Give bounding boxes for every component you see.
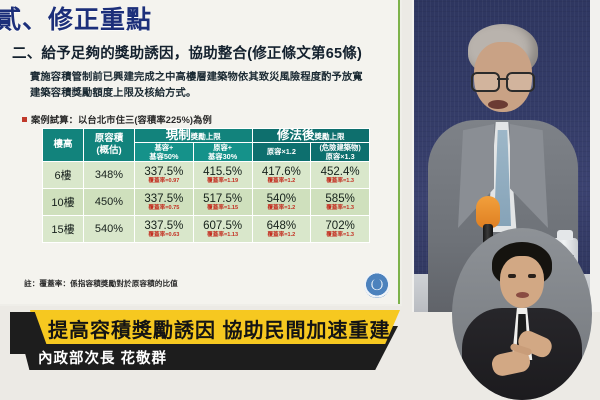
cell-value-3: 417.6%覆蓋率=1.2 bbox=[252, 161, 311, 188]
interpreter-eye-right bbox=[528, 274, 536, 278]
cell-value-3: 540%覆蓋率=1.2 bbox=[252, 188, 311, 215]
square-bullet-icon bbox=[22, 117, 27, 122]
lens-left bbox=[471, 72, 500, 92]
table-row: 15樓540%337.5%覆蓋率=0.63607.5%覆蓋率=1.13648%覆… bbox=[43, 215, 370, 242]
cell-value-1: 337.5%覆蓋率=0.75 bbox=[135, 188, 194, 215]
lens-right bbox=[506, 72, 535, 92]
th-amended-main: 修法後 bbox=[277, 128, 315, 142]
cell-coverage-note: 覆蓋率=1.19 bbox=[194, 178, 252, 184]
interpreter-mouth bbox=[516, 292, 529, 298]
th-current-system-suffix: 獎勵上限 bbox=[191, 132, 221, 141]
table-row: 10樓450%337.5%覆蓋率=0.75517.5%覆蓋率=1.15540%覆… bbox=[43, 188, 370, 215]
cell-value-1: 337.5%覆蓋率=0.63 bbox=[135, 215, 194, 242]
cell-coverage-note: 覆蓋率=1.3 bbox=[311, 232, 369, 238]
th-amended-col-2-line1: (危險建築物) bbox=[311, 143, 369, 152]
th-amended-col-1: 原容×1.2 bbox=[252, 142, 311, 161]
th-current-col-2-line2: 基容30% bbox=[194, 152, 252, 161]
th-current-col-1: 基容+ 基容50% bbox=[135, 142, 194, 161]
th-amended-col-2-line2: 原容×1.3 bbox=[311, 152, 369, 161]
presentation-slide: 貳、修正重點 二、給予足夠的獎助誘因，協助整合(修正條文第65條) 實施容積管制… bbox=[0, 0, 400, 304]
sign-language-interpreter-inset bbox=[452, 228, 592, 400]
cell-value-1: 337.5%覆蓋率=0.97 bbox=[135, 161, 194, 188]
cell-number: 415.5% bbox=[194, 166, 252, 178]
interpreter-face bbox=[500, 256, 544, 308]
cell-value-4: 452.4%覆蓋率=1.3 bbox=[311, 161, 370, 188]
th-floors: 樓高 bbox=[43, 129, 84, 162]
cell-coverage-note: 覆蓋率=1.13 bbox=[194, 232, 252, 238]
th-current-col-2: 原容+ 基容30% bbox=[193, 142, 252, 161]
cell-number: 452.4% bbox=[311, 166, 369, 178]
lower-third-banner: 提高容積獎勵誘因 協助民間加速重建 內政部次長 花敬群 bbox=[8, 310, 408, 372]
cell-floors: 6樓 bbox=[43, 161, 84, 188]
table-head: 樓高 原容積 (概估) 現制獎勵上限 修法後獎勵上限 bbox=[43, 129, 370, 162]
cell-number: 702% bbox=[311, 220, 369, 232]
case-study-label: 案例試算：以台北市住三(容積率225%)為例 bbox=[31, 112, 212, 126]
lower-third-speaker-title: 內政部次長 花敬群 bbox=[38, 346, 388, 368]
cell-original-far: 348% bbox=[84, 161, 135, 188]
slide-body-text: 實施容積管制前已興建完成之中高樓層建築物依其致災風險程度酌予放寬建築容積獎勵額度… bbox=[30, 70, 370, 102]
cell-original-far: 540% bbox=[84, 215, 135, 242]
table-note: 註：覆蓋率：係指容積獎勵對於原容積的比值 bbox=[24, 278, 178, 289]
table-body: 6樓348%337.5%覆蓋率=0.97415.5%覆蓋率=1.19417.6%… bbox=[43, 161, 370, 242]
eyeglasses-icon bbox=[471, 72, 535, 88]
cell-value-2: 607.5%覆蓋率=1.13 bbox=[193, 215, 252, 242]
cell-coverage-note: 覆蓋率=1.2 bbox=[253, 232, 311, 238]
speaker-mouth bbox=[488, 100, 508, 109]
th-current-col-2-line1: 原容+ bbox=[194, 143, 252, 152]
cell-number: 517.5% bbox=[194, 193, 252, 205]
cell-coverage-note: 覆蓋率=1.2 bbox=[253, 178, 311, 184]
cell-number: 648% bbox=[253, 220, 311, 232]
cell-number: 607.5% bbox=[194, 220, 252, 232]
interpreter-eye-left bbox=[508, 274, 516, 278]
cell-number: 585% bbox=[311, 193, 369, 205]
th-amended-col-2: (危險建築物) 原容×1.3 bbox=[311, 142, 370, 161]
cell-value-3: 648%覆蓋率=1.2 bbox=[252, 215, 311, 242]
cell-coverage-note: 覆蓋率=0.75 bbox=[135, 205, 193, 211]
th-amended-group: 修法後獎勵上限 bbox=[252, 129, 370, 143]
cell-value-4: 585%覆蓋率=1.3 bbox=[311, 188, 370, 215]
broadcast-frame: 貳、修正重點 二、給予足夠的獎助誘因，協助整合(修正條文第65條) 實施容積管制… bbox=[0, 0, 600, 400]
case-study-line: 案例試算：以台北市住三(容積率225%)為例 bbox=[22, 112, 212, 126]
th-amended-suffix: 獎勵上限 bbox=[315, 132, 345, 141]
cell-coverage-note: 覆蓋率=1.15 bbox=[194, 205, 252, 211]
cell-coverage-note: 覆蓋率=1.3 bbox=[311, 205, 369, 211]
presentation-slide-region: 貳、修正重點 二、給予足夠的獎助誘因，協助整合(修正條文第65條) 實施容積管制… bbox=[0, 0, 402, 306]
th-current-system-group: 現制獎勵上限 bbox=[135, 129, 253, 143]
cell-value-4: 702%覆蓋率=1.3 bbox=[311, 215, 370, 242]
lower-third-headline: 提高容積獎勵誘因 協助民間加速重建 bbox=[48, 313, 398, 343]
cell-number: 540% bbox=[253, 193, 311, 205]
cell-value-2: 415.5%覆蓋率=1.19 bbox=[193, 161, 252, 188]
table-row: 6樓348%337.5%覆蓋率=0.97415.5%覆蓋率=1.19417.6%… bbox=[43, 161, 370, 188]
cell-floors: 10樓 bbox=[43, 188, 84, 215]
cell-value-2: 517.5%覆蓋率=1.15 bbox=[193, 188, 252, 215]
th-original-far: 原容積 (概估) bbox=[84, 129, 135, 162]
cell-coverage-note: 覆蓋率=0.63 bbox=[135, 232, 193, 238]
cell-number: 337.5% bbox=[135, 193, 193, 205]
slide-title: 貳、修正重點 bbox=[0, 0, 152, 36]
th-original-far-main: 原容積 bbox=[84, 133, 134, 144]
cell-floors: 15樓 bbox=[43, 215, 84, 242]
th-amended-col-1-line1: 原容×1.2 bbox=[253, 147, 311, 156]
cell-number: 417.6% bbox=[253, 166, 311, 178]
cell-coverage-note: 覆蓋率=1.2 bbox=[253, 205, 311, 211]
cell-number: 337.5% bbox=[135, 166, 193, 178]
table-header-row-group: 樓高 原容積 (概估) 現制獎勵上限 修法後獎勵上限 bbox=[43, 129, 370, 143]
ministry-logo-icon bbox=[364, 272, 390, 298]
floor-area-ratio-table: 樓高 原容積 (概估) 現制獎勵上限 修法後獎勵上限 bbox=[42, 128, 370, 243]
slide-subtitle: 二、給予足夠的獎助誘因，協助整合(修正條文第65條) bbox=[12, 42, 362, 63]
cell-original-far: 450% bbox=[84, 188, 135, 215]
th-current-col-1-line1: 基容+ bbox=[135, 143, 193, 152]
cell-coverage-note: 覆蓋率=0.97 bbox=[135, 178, 193, 184]
cell-number: 337.5% bbox=[135, 220, 193, 232]
cell-coverage-note: 覆蓋率=1.3 bbox=[311, 178, 369, 184]
th-original-far-sub: (概估) bbox=[84, 145, 134, 156]
th-current-col-1-line2: 基容50% bbox=[135, 152, 193, 161]
th-current-system-main: 現制 bbox=[166, 128, 191, 142]
